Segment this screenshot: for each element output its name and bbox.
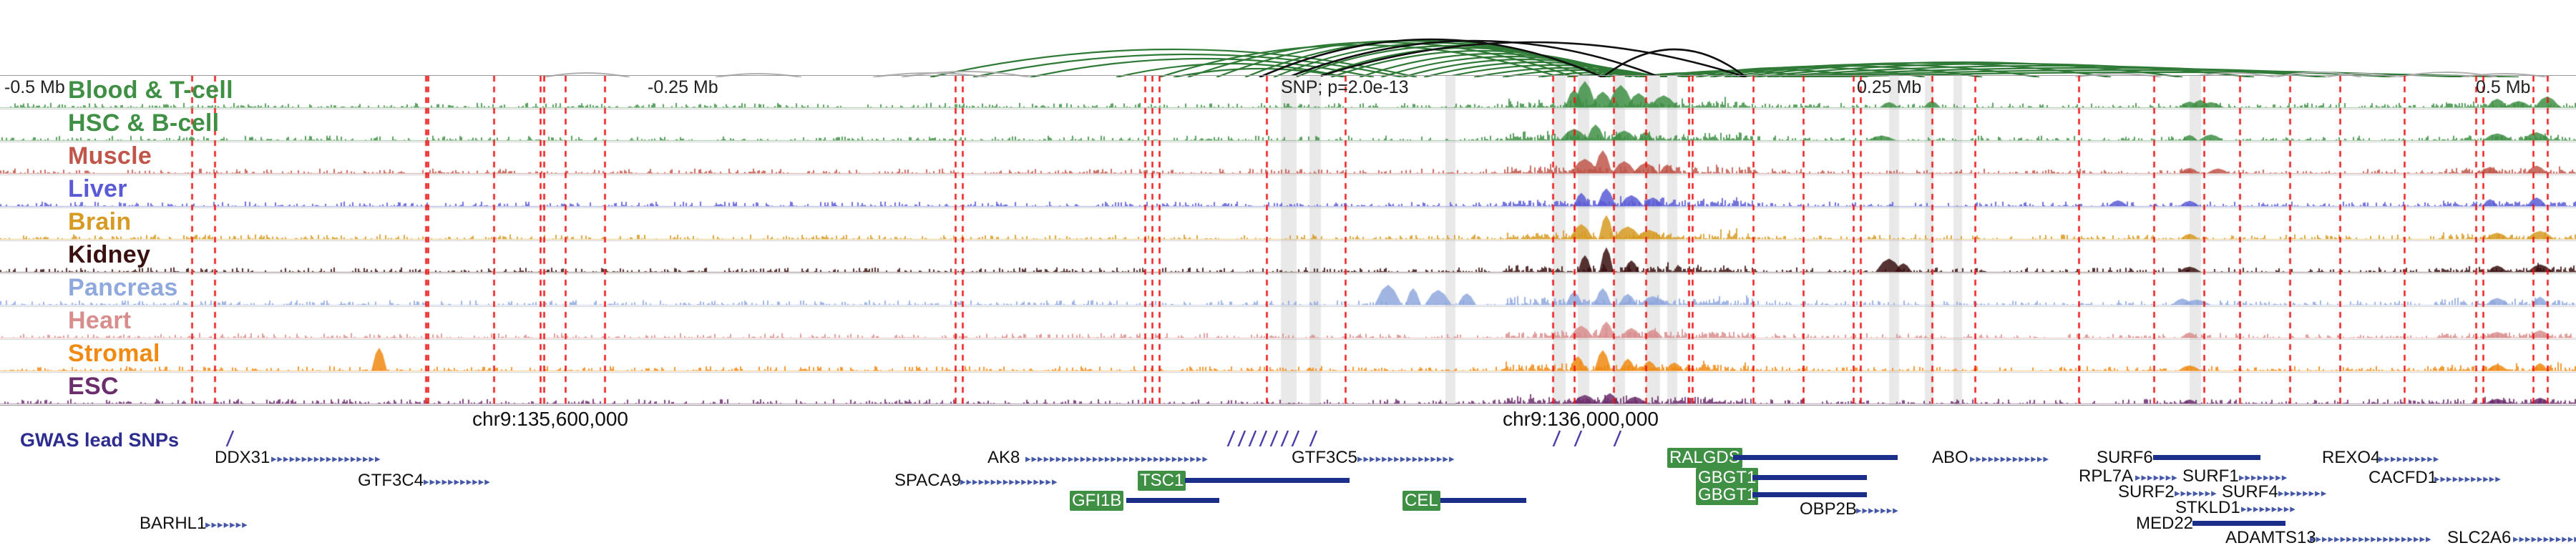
track-label-muscle: Muscle [68, 142, 152, 170]
gene-annotation-track: DDX31▸▸▸▸▸▸▸▸▸▸▸▸▸▸▸▸▸▸GTF3C4▸▸▸▸▸▸▸▸▸▸▸… [0, 435, 2576, 537]
gene-gtf3c5[interactable]: GTF3C5▸▸▸▸▸▸▸▸▸▸▸▸▸▸▸▸ [1292, 449, 1606, 465]
gene-label: CACFD1 [2368, 468, 2437, 488]
gene-gtf3c4[interactable]: GTF3C4▸▸▸▸▸▸▸▸▸▸▸ [358, 472, 615, 488]
interaction-arcs [0, 0, 2576, 77]
track-label-kidney: Kidney [68, 241, 150, 269]
gene-label: AK8 [987, 448, 1020, 468]
gene-label: GTF3C5 [1292, 448, 1357, 468]
track-label-liver: Liver [68, 175, 127, 203]
gene-label: GTF3C4 [358, 471, 424, 491]
axis-label-mid-right: 0.25 Mb [1857, 77, 1921, 98]
gene-body-line: ▸▸▸▸▸▸▸▸▸ [2241, 502, 2348, 512]
gene-body-line: ▸▸▸▸▸▸▸ [205, 518, 284, 528]
gene-body-box [1185, 478, 1350, 483]
track-panel: -0.5 Mb -0.25 Mb 0.25 Mb 0.5 Mb SNP; p=2… [0, 75, 2576, 406]
track-label-brain: Brain [68, 208, 131, 236]
gene-stkld1[interactable]: STKLD1▸▸▸▸▸▸▸▸▸ [2175, 499, 2411, 515]
accessibility-tracks-canvas [0, 76, 2576, 405]
gene-gfi1b[interactable]: GFI1B [1070, 492, 1292, 508]
gene-surf6[interactable]: SURF6 [2097, 449, 2333, 465]
gene-cacfd1[interactable]: CACFD1▸▸▸▸▸▸▸▸▸▸▸ [2368, 469, 2576, 485]
gene-label: REXO4 [2322, 448, 2380, 468]
gene-body-box [1126, 498, 1219, 503]
track-label-blood-t-cell: Blood & T-cell [68, 77, 233, 104]
gene-gbgt1[interactable]: GBGT1 [1696, 469, 1939, 485]
axis-label-right: 0.5 Mb [2476, 77, 2530, 98]
gene-body-box [2153, 455, 2260, 460]
gene-label: BARHL1 [140, 514, 206, 534]
gene-body-line: ▸▸▸▸▸▸▸▸ [2239, 471, 2325, 481]
gene-barhl1[interactable]: BARHL1▸▸▸▸▸▸▸ [140, 515, 347, 531]
track-label-hsc-b-cell: HSC & B-cell [68, 109, 219, 137]
track-label-pancreas: Pancreas [68, 274, 178, 302]
gene-label: DDX31 [215, 448, 270, 468]
gene-body-line: ▸▸▸▸▸▸▸▸▸▸▸▸▸▸▸▸ [960, 475, 1139, 485]
gene-label: RALGDS [1667, 448, 1742, 468]
track-label-heart: Heart [68, 307, 131, 335]
track-label-stromal: Stromal [68, 340, 160, 368]
axis-label-left: -0.5 Mb [4, 77, 65, 98]
gene-body-line: ▸▸▸▸▸▸▸▸▸▸▸ [424, 475, 552, 485]
gene-ddx31[interactable]: DDX31▸▸▸▸▸▸▸▸▸▸▸▸▸▸▸▸▸▸ [215, 449, 551, 465]
gene-body-box [1733, 455, 1898, 460]
gene-label: GBGT1 [1696, 485, 1758, 505]
gene-body-line: ▸▸▸▸▸▸▸▸▸▸▸▸▸ [1970, 452, 2113, 462]
snp-annotation: SNP; p=2.0e-13 [1281, 77, 1409, 98]
gene-tsc1[interactable]: TSC1 [1138, 472, 1431, 488]
gene-ralgds[interactable]: RALGDS [1667, 449, 1961, 465]
gene-label: SLC2A6 [2447, 528, 2511, 548]
gene-label: ADAMTS13 [2225, 528, 2316, 548]
gene-label: SPACA9 [894, 471, 961, 491]
gene-body-line: ▸▸▸▸▸▸▸▸▸▸▸▸▸▸▸▸ [1357, 452, 1543, 462]
gene-body-box [1752, 492, 1867, 497]
gene-surf1[interactable]: SURF1▸▸▸▸▸▸▸▸ [2182, 468, 2397, 484]
gene-label: GFI1B [1070, 491, 1123, 511]
axis-label-mid-left: -0.25 Mb [648, 77, 718, 98]
gene-body-box [1752, 475, 1867, 480]
track-label-esc: ESC [68, 373, 119, 401]
gene-label: MED22 [2136, 514, 2193, 534]
gene-body-box [1440, 498, 1526, 503]
gene-body-line: ▸▸▸▸▸▸▸ [1856, 504, 1935, 514]
gene-rexo4[interactable]: REXO4▸▸▸▸▸▸▸▸▸▸ [2322, 449, 2565, 465]
gene-obp2b[interactable]: OBP2B▸▸▸▸▸▸▸ [1800, 501, 2007, 517]
gene-label: CEL [1402, 491, 1440, 511]
gene-label: ABO [1932, 448, 1968, 468]
gene-body-line: ▸▸▸▸▸▸▸▸ [2278, 486, 2371, 496]
gene-body-box [2192, 521, 2285, 526]
gene-label: TSC1 [1138, 471, 1186, 491]
gene-label: SURF6 [2097, 448, 2153, 468]
gene-body-line: ▸▸▸▸▸▸▸▸▸▸▸▸▸▸▸▸▸▸ [271, 452, 479, 462]
gene-label: SURF2 [2118, 482, 2175, 502]
gene-body-line: ▸▸▸▸▸▸▸▸▸▸▸ [2434, 472, 2563, 482]
gene-cel[interactable]: CEL [1402, 492, 1617, 508]
gene-body-line: ▸▸▸▸▸▸▸▸▸▸ [2379, 452, 2493, 462]
gene-body-line: ▸▸▸▸▸▸▸▸▸▸▸ [2513, 532, 2576, 542]
genome-browser-figure: -0.5 Mb -0.25 Mb 0.25 Mb 0.5 Mb SNP; p=2… [0, 0, 2576, 537]
gene-slc2a6[interactable]: SLC2A6▸▸▸▸▸▸▸▸▸▸▸ [2447, 529, 2576, 545]
gene-label: OBP2B [1800, 499, 1857, 519]
